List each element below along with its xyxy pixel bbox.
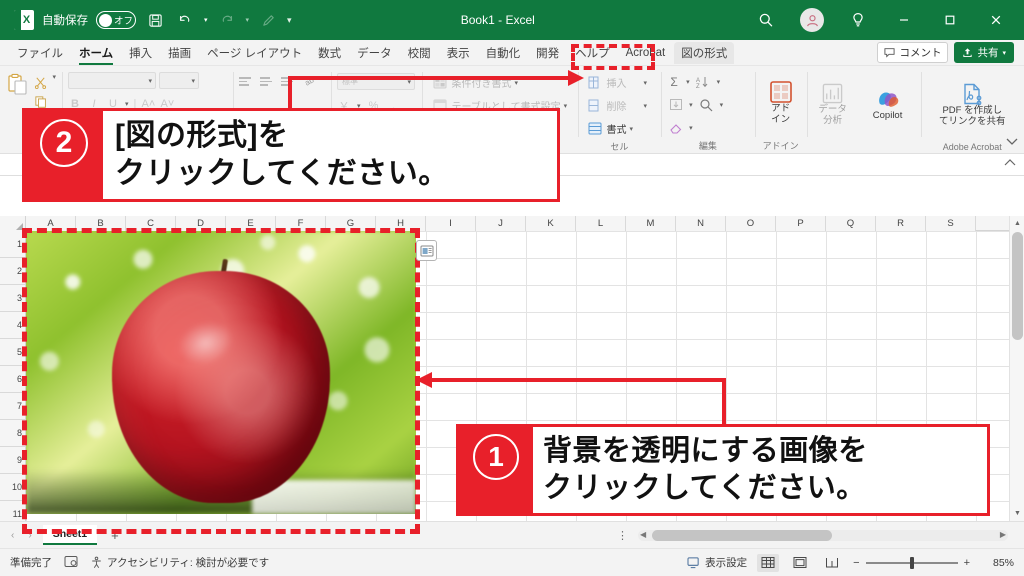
callout-1-line1: 背景を透明にする画像を: [543, 433, 987, 470]
ribbon-group-cells: 挿入 ▾ 削除 ▾ 書式 ▾ セル: [578, 66, 662, 153]
row-header-5[interactable]: 5: [0, 339, 26, 366]
copilot-button[interactable]: Copilot: [861, 87, 915, 122]
group-label-addins: アドイン: [761, 137, 801, 152]
highlight-picture-format-tab: [571, 44, 655, 70]
column-header-Q[interactable]: Q: [826, 216, 876, 231]
number-format-select[interactable]: 標準 ▾: [337, 73, 415, 90]
tab-developer[interactable]: 開発: [529, 42, 566, 64]
sort-filter-icon[interactable]: AZ: [695, 73, 712, 90]
orientation-icon[interactable]: ab: [302, 73, 319, 90]
view-page-layout-button[interactable]: [789, 554, 811, 572]
share-label: 共有: [977, 45, 998, 60]
status-ready-label: 準備完了: [10, 555, 52, 570]
conditional-formatting-button[interactable]: 条件付き書式 ▾: [428, 73, 571, 92]
callout-1-line2: クリックしてください。: [543, 470, 987, 507]
underline-dropdown-icon[interactable]: ▾: [125, 100, 129, 108]
horizontal-scroll-thumb[interactable]: [652, 530, 832, 541]
create-pdf-share-link-button[interactable]: PDF を作成し てリンクを共有: [935, 82, 1009, 128]
tab-data[interactable]: データ: [350, 42, 399, 64]
column-header-E[interactable]: E: [226, 216, 276, 231]
autosave-label: 自動保存: [42, 12, 88, 28]
group-label-analysis: [813, 140, 915, 152]
group-label-cells: セル: [584, 138, 656, 153]
autosave-toggle[interactable]: オフ: [96, 11, 136, 29]
clipboard-more-icon[interactable]: ▾: [52, 73, 56, 81]
horizontal-scrollbar[interactable]: ◀ ▶: [638, 530, 1008, 541]
status-bar: 準備完了 アクセシビリティ: 検討が必要です 表示設定 −: [0, 548, 1024, 576]
create-pdf-label-line1: PDF を作成し: [942, 106, 1002, 117]
excel-window: X 自動保存 オフ ▾ ▾ ▾ Book1 - Excel: [0, 0, 1024, 576]
help-lightbulb-icon[interactable]: [836, 0, 880, 40]
window-controls: [744, 0, 1024, 40]
column-header-O[interactable]: O: [726, 216, 776, 231]
column-header-P[interactable]: P: [776, 216, 826, 231]
paste-button[interactable]: [6, 73, 29, 97]
tab-formulas[interactable]: 数式: [311, 42, 348, 64]
row-header-column: 1 2 3 4 5 6 7 8 9 10 11 12 13 14 15 16 1…: [0, 231, 26, 521]
tab-home[interactable]: ホーム: [72, 42, 120, 64]
sheet-tab-sheet1[interactable]: Sheet1: [43, 525, 97, 545]
font-name-input[interactable]: ▾: [68, 72, 156, 89]
column-header-C[interactable]: C: [126, 216, 176, 231]
sheet-options-icon[interactable]: ⋮: [617, 529, 628, 542]
tab-automate[interactable]: 自動化: [479, 42, 528, 64]
cut-icon[interactable]: [32, 74, 49, 91]
accessibility-label: アクセシビリティ: 検討が必要です: [107, 555, 269, 570]
display-settings-button[interactable]: 表示設定: [687, 555, 747, 570]
collapse-ribbon-button[interactable]: [1006, 137, 1018, 149]
align-middle-icon[interactable]: [260, 76, 274, 88]
column-header-I[interactable]: I: [426, 216, 476, 231]
row-header-8[interactable]: 8: [0, 420, 26, 447]
status-bar-right: 表示設定 − + 85%: [687, 554, 1014, 572]
ribbon-group-addins: アド イン アドイン: [755, 66, 807, 153]
autosave-state: オフ: [114, 13, 133, 27]
column-header-K[interactable]: K: [526, 216, 576, 231]
tab-file[interactable]: ファイル: [10, 42, 70, 64]
row-header-4[interactable]: 4: [0, 312, 26, 339]
redo-dropdown-icon: ▾: [246, 16, 250, 24]
share-button[interactable]: 共有 ▾: [954, 42, 1014, 63]
callout-2-number: 2: [25, 111, 103, 199]
close-button[interactable]: [974, 0, 1018, 40]
callout-step-1: 1 背景を透明にする画像を クリックしてください。: [456, 424, 990, 516]
accessibility-status[interactable]: アクセシビリティ: 検討が必要です: [90, 555, 269, 570]
fill-icon[interactable]: [667, 96, 684, 113]
prev-sheet-button[interactable]: ‹: [8, 530, 17, 541]
align-bottom-icon[interactable]: [281, 76, 295, 88]
format-cells-button[interactable]: 書式 ▾: [584, 119, 656, 138]
row-header-10[interactable]: 10: [0, 474, 26, 501]
addin-icon: [769, 80, 793, 104]
row-header-7[interactable]: 7: [0, 393, 26, 420]
column-header-G[interactable]: G: [326, 216, 376, 231]
next-sheet-button[interactable]: ›: [25, 530, 34, 541]
row-header-3[interactable]: 3: [0, 285, 26, 312]
clear-icon[interactable]: [667, 119, 684, 136]
zoom-in-button[interactable]: +: [964, 557, 970, 569]
group-label-editing: 編集: [667, 137, 748, 152]
accessibility-icon: [90, 556, 103, 569]
minimize-button[interactable]: [882, 0, 926, 40]
tab-page-layout[interactable]: ページ レイアウト: [200, 42, 309, 64]
column-header-A[interactable]: A: [26, 216, 76, 231]
row-header-1[interactable]: 1: [0, 231, 26, 258]
font-size-input[interactable]: ▾: [159, 72, 199, 89]
select-all-button[interactable]: [0, 216, 26, 231]
share-icon: [962, 47, 973, 58]
copilot-icon: [875, 87, 901, 111]
tab-view[interactable]: 表示: [440, 42, 477, 64]
comments-label: コメント: [899, 45, 941, 60]
align-top-icon[interactable]: [239, 76, 253, 88]
column-header-M[interactable]: M: [626, 216, 676, 231]
ribbon-group-analysis: データ 分析 Copilot: [807, 66, 921, 153]
tab-picture-format[interactable]: 図の形式: [674, 42, 734, 64]
callout-1-text: 背景を透明にする画像を クリックしてください。: [533, 427, 987, 513]
svg-text:ab: ab: [304, 75, 317, 88]
formula-bar-expand-icon[interactable]: [1004, 159, 1016, 170]
vertical-scroll-thumb[interactable]: [1012, 232, 1023, 340]
zoom-level-label[interactable]: 85%: [980, 557, 1014, 569]
tab-draw[interactable]: 描画: [161, 42, 198, 64]
document-title: Book1 - Excel: [252, 13, 744, 27]
touch-pen-icon[interactable]: [257, 9, 279, 31]
account-avatar-icon[interactable]: [790, 0, 834, 40]
comments-button[interactable]: コメント: [877, 42, 948, 63]
callout-2-text: [図の形式]を クリックしてください。: [103, 111, 557, 199]
add-sheet-button[interactable]: +: [105, 528, 125, 543]
sheet-tab-bar: ‹ › Sheet1 + ⋮ ◀ ▶: [0, 521, 1024, 548]
column-header-D[interactable]: D: [176, 216, 226, 231]
row-header-11[interactable]: 11: [0, 501, 26, 521]
title-bar: X 自動保存 オフ ▾ ▾ ▾ Book1 - Excel: [0, 0, 1024, 40]
undo-dropdown-icon[interactable]: ▾: [204, 16, 208, 24]
copilot-label: Copilot: [873, 111, 903, 122]
find-select-icon[interactable]: [698, 96, 715, 113]
addins-label-line2: イン: [771, 115, 790, 126]
autosum-icon[interactable]: Σ: [667, 75, 681, 89]
delete-cells-button[interactable]: 削除 ▾: [584, 96, 656, 115]
column-header-F[interactable]: F: [276, 216, 326, 231]
data-analysis-label-line2: 分析: [823, 116, 842, 127]
maximize-button[interactable]: [928, 0, 972, 40]
zoom-slider-handle[interactable]: [910, 557, 914, 569]
excel-logo-icon: X: [14, 10, 34, 30]
callout-1-number: 1: [459, 427, 533, 513]
svg-text:Z: Z: [696, 84, 700, 89]
zoom-slider[interactable]: − +: [853, 557, 970, 569]
comment-icon: [884, 47, 895, 58]
apple-highlight: [172, 314, 239, 371]
save-icon[interactable]: [144, 9, 166, 31]
view-normal-button[interactable]: [757, 554, 779, 572]
insert-cells-label: 挿入: [607, 75, 627, 90]
callout-step-2: 2 [図の形式]を クリックしてください。: [22, 108, 560, 202]
format-cells-label: 書式: [607, 121, 627, 136]
column-header-S[interactable]: S: [926, 216, 976, 231]
insert-cells-button[interactable]: 挿入 ▾: [584, 73, 656, 92]
number-format-value: 標準: [338, 76, 358, 87]
tab-insert[interactable]: 挿入: [122, 42, 159, 64]
tab-review[interactable]: 校閲: [401, 42, 438, 64]
display-settings-icon: [687, 557, 701, 569]
column-header-N[interactable]: N: [676, 216, 726, 231]
share-dropdown-icon[interactable]: ▾: [1002, 49, 1006, 57]
quick-access-toolbar: X 自動保存 オフ ▾ ▾ ▾: [0, 9, 292, 31]
horizontal-scroll-area: ⋮ ◀ ▶: [617, 529, 1024, 542]
zoom-out-button[interactable]: −: [853, 557, 859, 569]
column-header-R[interactable]: R: [876, 216, 926, 231]
undo-icon[interactable]: [174, 9, 196, 31]
delete-cells-label: 削除: [607, 98, 627, 113]
conditional-formatting-label: 条件付き書式: [451, 75, 511, 90]
row-header-6[interactable]: 6: [0, 366, 26, 393]
zoom-slider-track[interactable]: [866, 562, 958, 564]
callout-2-line1: [図の形式]を: [115, 117, 557, 155]
addins-button[interactable]: アド イン: [761, 80, 801, 126]
column-header-B[interactable]: B: [76, 216, 126, 231]
create-pdf-label-line2: てリンクを共有: [939, 117, 1006, 128]
ribbon-tab-bar: ファイル ホーム 挿入 描画 ページ レイアウト 数式 データ 校閲 表示 自動…: [0, 40, 1024, 66]
redo-icon: [216, 9, 238, 31]
row-header-9[interactable]: 9: [0, 447, 26, 474]
data-analysis-icon: [821, 82, 844, 105]
column-header-H[interactable]: H: [376, 216, 426, 231]
group-label-acrobat: Adobe Acrobat: [927, 140, 1018, 152]
display-settings-label: 表示設定: [705, 555, 747, 570]
layout-options-icon[interactable]: [416, 240, 437, 261]
search-icon[interactable]: [744, 0, 788, 40]
apple-photo[interactable]: [26, 231, 416, 514]
callout-2-line2: クリックしてください。: [115, 155, 557, 193]
view-page-break-preview-button[interactable]: [821, 554, 843, 572]
column-header-L[interactable]: L: [576, 216, 626, 231]
ribbon-group-editing: Σ ▾ AZ ▾ ▾ ▾ ▾: [661, 66, 754, 153]
record-macro-icon[interactable]: [64, 555, 78, 571]
row-header-2[interactable]: 2: [0, 258, 26, 285]
ribbon-tab-bar-right: コメント 共有 ▾: [877, 42, 1024, 63]
paste-icon: [7, 73, 29, 97]
pdf-share-icon: [960, 82, 984, 106]
column-header-J[interactable]: J: [476, 216, 526, 231]
apple-body: [112, 271, 330, 503]
data-analysis-button[interactable]: データ 分析: [813, 82, 853, 127]
vertical-scrollbar[interactable]: ▲ ▼: [1009, 216, 1024, 521]
column-header-row: A B C D E F G H I J K L M N O P Q R S: [0, 216, 1009, 231]
